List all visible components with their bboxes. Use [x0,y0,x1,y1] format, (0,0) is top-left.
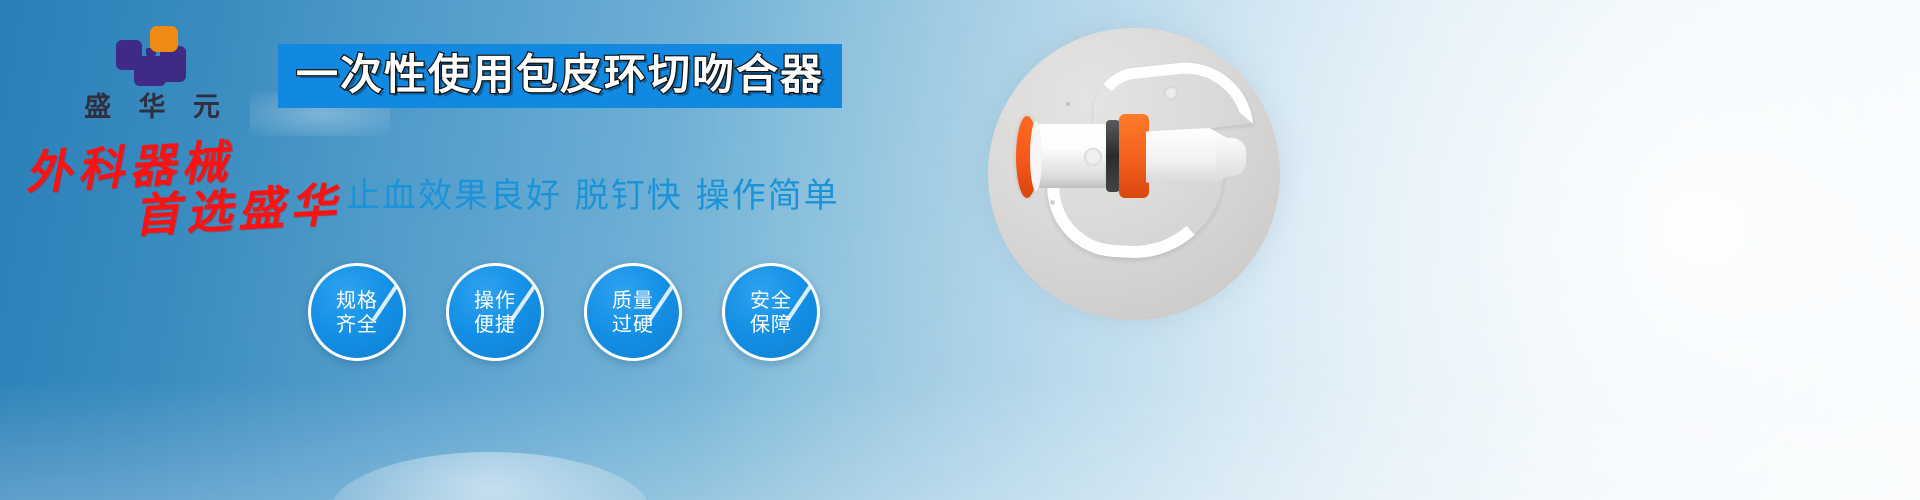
stapler-inner-ring [1030,121,1042,191]
stapler-hinge [1084,148,1102,166]
badge-line-1: 操作 [474,288,516,312]
stapler-tip [1216,138,1246,176]
badge-line-2: 便捷 [474,312,516,336]
product-title-banner: 一次性使用包皮环切吻合器 [278,44,842,108]
badge-line-2: 保障 [750,312,792,336]
badge-safety[interactable]: 安全 保障 [722,263,820,361]
badge-line-2: 齐全 [336,312,378,336]
stapler-orange-body [1119,114,1149,198]
photo-speck [1050,200,1055,205]
photo-speck [1066,102,1070,106]
shenghuayuan-logo-mark [116,26,188,88]
product-image [988,28,1280,320]
calligraphy-slogan: 外科器械 首选盛华 [24,132,343,245]
badge-line-2: 过硬 [612,312,654,336]
badge-operation[interactable]: 操作 便捷 [446,263,544,361]
badge-line-1: 规格 [336,288,378,312]
badge-specifications[interactable]: 规格 齐全 [308,263,406,361]
badge-quality[interactable]: 质量 过硬 [584,263,682,361]
calligraphy-line-2: 首选盛华 [133,181,343,239]
product-title: 一次性使用包皮环切吻合器 [296,52,824,97]
stapler-hinge-secondary [1164,86,1178,100]
badge-line-1: 安全 [750,288,792,312]
product-subtitle: 止血效果良好 脱钉快 操作简单 [346,168,840,217]
bottom-sheen [0,380,1920,500]
bottom-glow [330,452,650,500]
brand-logo[interactable]: 盛 华 元 [62,26,242,121]
badge-line-1: 质量 [612,288,654,312]
feature-badges: 规格 齐全 操作 便捷 质量 过硬 安全 保障 [308,263,820,361]
stapler-dark-collar [1106,120,1120,192]
brand-name: 盛 华 元 [62,94,242,121]
